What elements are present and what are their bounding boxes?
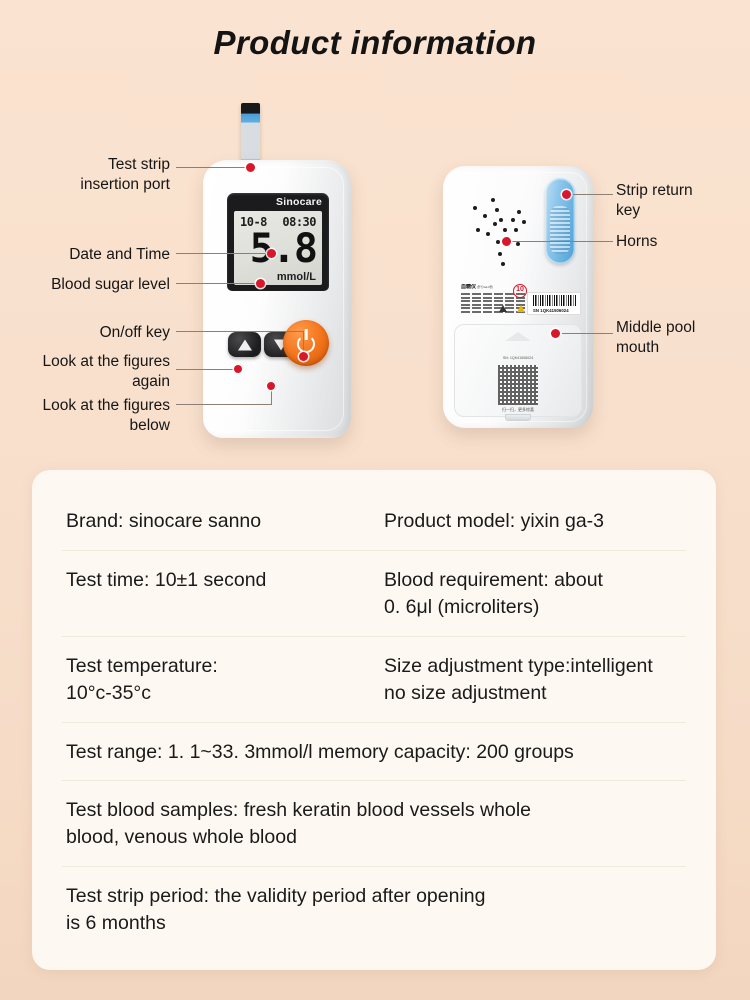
table-row: Test temperature: 10°c-35°c Size adjustm… <box>62 636 686 722</box>
open-arrow-icon <box>505 332 531 341</box>
product-information-page: Product information Sinocare 10-8 08:30 … <box>0 0 750 1000</box>
marker-dot-look-below <box>267 382 275 390</box>
table-row: Test time: 10±1 second Blood requirement… <box>62 550 686 636</box>
glucose-meter-back: 血糖仪 (型号:GA-3型) 10 SN 1QK41506024 SN: 1QK… <box>443 166 593 428</box>
scroll-down-button[interactable] <box>264 332 297 357</box>
glucose-meter-front: Sinocare 10-8 08:30 5.8 mmol/L <box>203 160 351 438</box>
product-label: 血糖仪 (型号:GA-3型) 10 <box>461 284 529 320</box>
lcd-screen: 10-8 08:30 5.8 mmol/L <box>234 211 322 285</box>
qr-caption: 扫一扫，更多惊喜 <box>502 407 534 413</box>
marker-dot-on-off-key <box>299 352 308 361</box>
lcd-unit: mmol/L <box>277 271 316 283</box>
leader-line <box>176 331 304 332</box>
callout-test-strip-insertion-port: Test strip insertion port <box>40 155 170 196</box>
callout-look-at-the-figures-again: Look at the figures again <box>20 352 170 393</box>
warning-triangle-icon <box>499 305 507 312</box>
marker-dot-strip-return-key <box>562 190 571 199</box>
spec-cell-product-model: Product model: yixin ga-3 <box>374 492 686 550</box>
battery-door-tab[interactable] <box>505 414 531 421</box>
triangle-up-icon <box>238 339 252 350</box>
lcd-date: 10-8 <box>240 215 267 229</box>
lcd-time: 08:30 <box>282 215 316 229</box>
marker-dot-test-strip-insertion-port <box>246 163 255 172</box>
barcode-icon <box>533 295 576 306</box>
spec-cell-test-blood-samples: Test blood samples: fresh keratin blood … <box>62 781 686 866</box>
spec-cell-test-time: Test time: 10±1 second <box>62 551 374 636</box>
callout-date-and-time: Date and Time <box>30 245 170 265</box>
leader-line <box>512 241 613 242</box>
leader-line <box>573 194 613 195</box>
spec-cell-test-range: Test range: 1. 1~33. 3mmol/l memory capa… <box>62 723 686 781</box>
page-title: Product information <box>0 24 750 62</box>
spec-cell-blood-requirement: Blood requirement: about 0. 6μl (microli… <box>374 551 686 636</box>
table-row: Test blood samples: fresh keratin blood … <box>62 780 686 866</box>
spec-cell-size-adjustment: Size adjustment type:intelligent no size… <box>374 637 686 722</box>
marker-dot-horns <box>502 237 511 246</box>
brand-logo: Sinocare <box>276 196 322 208</box>
lcd-top-row: 10-8 08:30 <box>240 215 316 229</box>
leader-line <box>562 333 613 334</box>
spec-cell-brand: Brand: sinocare sanno <box>62 492 374 550</box>
callout-look-at-the-figures-below: Look at the figures below <box>20 396 170 437</box>
callout-horns: Horns <box>616 232 746 252</box>
qr-code-icon <box>498 365 538 405</box>
triangle-down-icon <box>274 339 288 350</box>
spec-table-card: Brand: sinocare sanno Product model: yix… <box>32 470 716 970</box>
strip-eject-slider[interactable] <box>545 178 575 264</box>
label-heading: 血糖仪 <box>461 284 476 290</box>
barcode-label: SN 1QK41506024 <box>527 292 581 315</box>
table-row: Test strip period: the validity period a… <box>62 866 686 952</box>
table-row: Brand: sinocare sanno Product model: yix… <box>62 492 686 550</box>
leader-line <box>176 369 238 370</box>
leader-line <box>176 283 261 284</box>
marker-dot-blood-sugar-level <box>256 279 265 288</box>
table-row: Test range: 1. 1~33. 3mmol/l memory capa… <box>62 722 686 781</box>
certification-mark: 10 <box>513 284 527 298</box>
marker-dot-date-and-time <box>267 249 276 258</box>
slider-grip <box>550 206 570 254</box>
qr-serial-text: SN: 1QK41506024 <box>503 356 533 360</box>
battery-cover[interactable]: SN: 1QK41506024 扫一扫，更多惊喜 <box>454 324 582 417</box>
callout-middle-pool-mouth: Middle pool mouth <box>616 318 746 359</box>
lcd-reading: 5.8 <box>234 229 316 269</box>
leader-line <box>176 253 275 254</box>
leader-line <box>271 388 272 405</box>
leader-line <box>176 404 272 405</box>
hazard-triangle-icon <box>517 305 525 312</box>
scroll-up-button[interactable] <box>228 332 261 357</box>
marker-dot-middle-pool-mouth <box>551 329 560 338</box>
leader-line <box>176 167 250 168</box>
callout-strip-return-key: Strip return key <box>616 181 746 222</box>
callout-blood-sugar-level: Blood sugar level <box>20 275 170 295</box>
lcd-bezel: Sinocare 10-8 08:30 5.8 mmol/L <box>227 193 329 291</box>
barcode-serial: SN 1QK41506024 <box>533 308 569 313</box>
power-icon <box>297 335 315 353</box>
marker-dot-look-again <box>234 365 242 373</box>
test-strip <box>241 103 260 167</box>
label-model-note: (型号:GA-3型) <box>477 286 493 289</box>
spec-cell-test-temperature: Test temperature: 10°c-35°c <box>62 637 374 722</box>
spec-cell-test-strip-period: Test strip period: the validity period a… <box>62 867 686 952</box>
callout-on-off-key: On/off key <box>50 323 170 343</box>
